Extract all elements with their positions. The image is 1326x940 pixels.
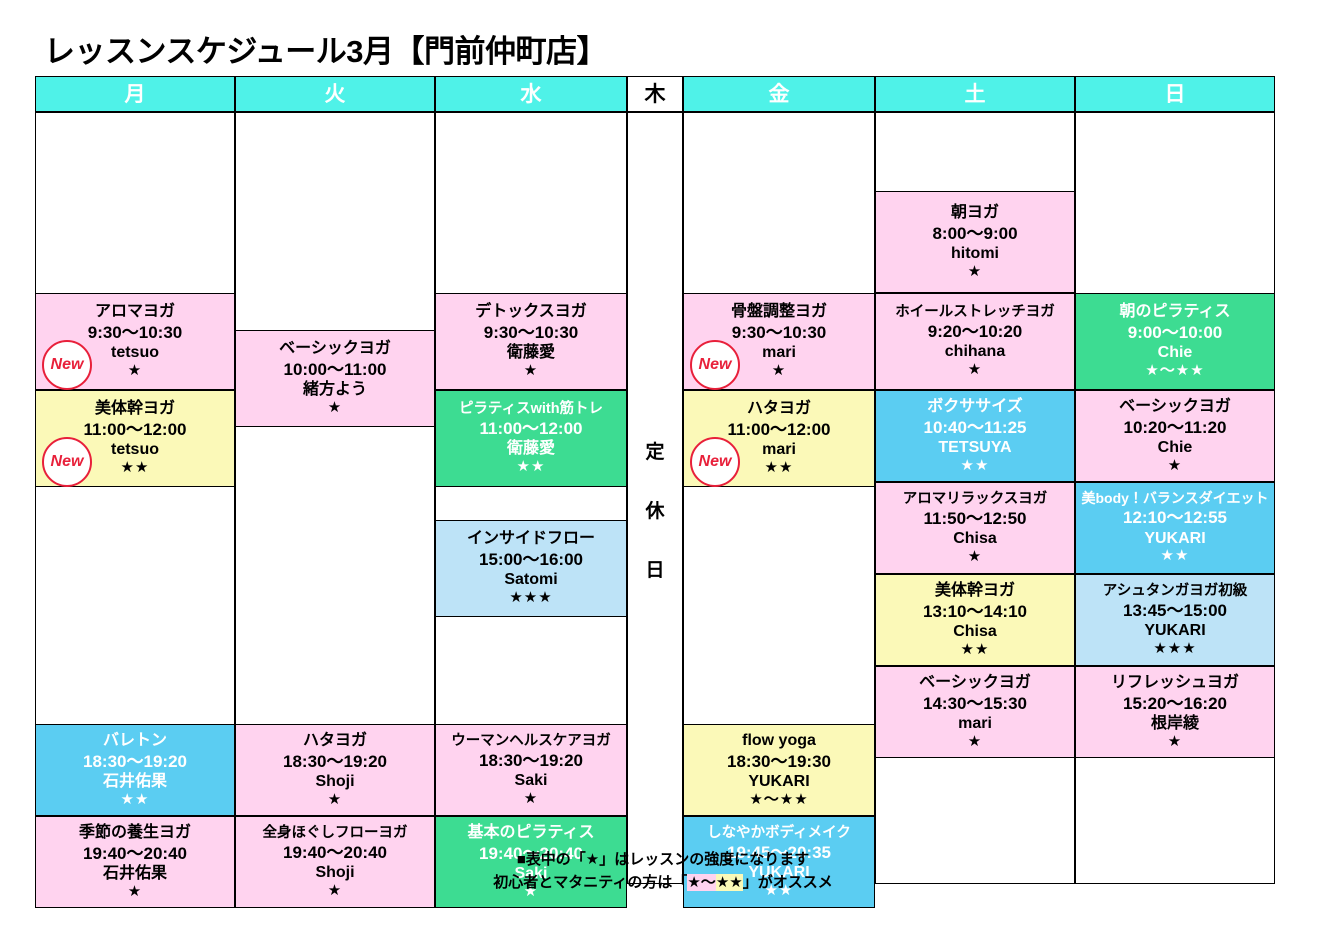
lesson-cell[interactable]: リフレッシュヨガ15:20〜16:20根岸綾★ — [1075, 666, 1275, 758]
new-badge: New — [690, 340, 740, 390]
lesson-instructor: Shoji — [315, 773, 354, 791]
lesson-time: 11:00〜12:00 — [479, 419, 582, 438]
day-column-wed: 水デトックスヨガ9:30〜10:30衛藤愛★ピラティスwith筋トレ11:00〜… — [435, 76, 627, 884]
lesson-name: ボクササイズ — [927, 398, 1023, 416]
closed-day-char3: 日 — [645, 561, 664, 580]
schedule-grid: 月アロマヨガ9:30〜10:30tetsuo★New美体幹ヨガ11:00〜12:… — [35, 76, 1275, 884]
lesson-instructor: tetsuo — [111, 441, 159, 459]
lesson-name: ベーシックヨガ — [919, 674, 1031, 692]
day-body-tue: ベーシックヨガ10:00〜11:00緒方よう★ハタヨガ18:30〜19:20Sh… — [235, 112, 435, 884]
lesson-name: 全身ほぐしフローヨガ — [263, 825, 408, 841]
lesson-intensity-stars: ★★★ — [509, 590, 552, 607]
lesson-intensity-stars: ★ — [328, 400, 342, 417]
day-body-fri: 骨盤調整ヨガ9:30〜10:30mari★Newハタヨガ11:00〜12:00m… — [683, 112, 875, 884]
day-header-fri: 金 — [683, 76, 875, 112]
closed-day-label: 定休日 — [628, 443, 682, 620]
lesson-name: リフレッシュヨガ — [1111, 674, 1239, 692]
day-body-sat: 朝ヨガ8:00〜9:00hitomi★ホイールストレッチヨガ9:20〜10:20… — [875, 112, 1075, 884]
day-header-mon: 月 — [35, 76, 235, 112]
lesson-cell[interactable]: ベーシックヨガ10:20〜11:20Chie★ — [1075, 390, 1275, 482]
lesson-name: バレトン — [103, 732, 167, 750]
lesson-intensity-stars: ★ — [968, 362, 982, 379]
lesson-cell[interactable]: ベーシックヨガ10:00〜11:00緒方よう★ — [235, 330, 435, 427]
lesson-name: 朝ヨガ — [951, 204, 999, 222]
new-badge: New — [42, 340, 92, 390]
day-column-fri: 金骨盤調整ヨガ9:30〜10:30mari★Newハタヨガ11:00〜12:00… — [683, 76, 875, 884]
lesson-cell[interactable]: flow yoga18:30〜19:30YUKARI★〜★★ — [683, 724, 875, 816]
lesson-name: 美体幹ヨガ — [935, 582, 1015, 600]
lesson-instructor: Chie — [1158, 439, 1193, 457]
lesson-cell[interactable]: 美body！バランスダイエット12:10〜12:55YUKARI★★ — [1075, 482, 1275, 574]
lesson-name: アロマリラックスヨガ — [903, 491, 1048, 507]
lesson-name: ピラティスwith筋トレ — [459, 401, 603, 417]
lesson-instructor: Satomi — [504, 571, 557, 589]
lesson-intensity-stars: ★ — [524, 791, 538, 808]
lesson-intensity-stars: ★★★ — [1153, 641, 1196, 658]
lesson-instructor: mari — [958, 715, 992, 733]
lesson-instructor: Chisa — [953, 623, 997, 641]
lesson-name: ウーマンヘルスケアヨガ — [451, 733, 611, 749]
lesson-intensity-stars: ★ — [968, 264, 982, 281]
lesson-time: 10:00〜11:00 — [283, 360, 386, 379]
lesson-time: 8:00〜9:00 — [932, 224, 1017, 243]
day-column-sun: 日朝のピラティス9:00〜10:00Chie★〜★★ベーシックヨガ10:20〜1… — [1075, 76, 1275, 884]
lesson-instructor: YUKARI — [1144, 622, 1205, 640]
new-badge: New — [42, 437, 92, 487]
lesson-instructor: TETSUYA — [938, 439, 1011, 457]
day-body-mon: アロマヨガ9:30〜10:30tetsuo★New美体幹ヨガ11:00〜12:0… — [35, 112, 235, 884]
lesson-cell[interactable]: ハタヨガ18:30〜19:20Shoji★ — [235, 724, 435, 816]
day-body-sun: 朝のピラティス9:00〜10:00Chie★〜★★ベーシックヨガ10:20〜11… — [1075, 112, 1275, 884]
lesson-time: 10:20〜11:20 — [1123, 418, 1226, 437]
lesson-name: ハタヨガ — [747, 400, 811, 418]
lesson-instructor: mari — [762, 344, 796, 362]
lesson-time: 12:10〜12:55 — [1123, 508, 1227, 527]
day-header-sat: 土 — [875, 76, 1075, 112]
lesson-instructor: Saki — [515, 772, 548, 790]
lesson-intensity-stars: ★〜★★ — [749, 792, 808, 809]
lesson-cell[interactable]: ボクササイズ10:40〜11:25TETSUYA★★ — [875, 390, 1075, 482]
lesson-time: 9:00〜10:00 — [1128, 323, 1223, 342]
day-column-tue: 火ベーシックヨガ10:00〜11:00緒方よう★ハタヨガ18:30〜19:20S… — [235, 76, 435, 884]
lesson-time: 9:30〜10:30 — [732, 323, 827, 342]
lesson-intensity-stars: ★★ — [121, 792, 150, 809]
day-header-tue: 火 — [235, 76, 435, 112]
legend-line-2-suffix: 」がオススメ — [743, 874, 833, 891]
lesson-time: 18:30〜19:20 — [83, 752, 187, 771]
lesson-name: 基本のピラティス — [467, 824, 594, 842]
legend-star-two: ★★ — [716, 874, 743, 891]
lesson-cell[interactable]: 朝のピラティス9:00〜10:00Chie★〜★★ — [1075, 293, 1275, 390]
lesson-name: 朝のピラティス — [1119, 303, 1230, 321]
day-column-thu: 木定休日 — [627, 76, 683, 884]
page-title: レッスンスケジュール3月【門前仲町店】 — [44, 26, 607, 71]
lesson-time: 9:20〜10:20 — [928, 322, 1023, 341]
closed-day-char2: 休 — [645, 502, 664, 521]
lesson-cell[interactable]: ベーシックヨガ14:30〜15:30mari★ — [875, 666, 1075, 758]
lesson-instructor: 衛藤愛 — [507, 440, 555, 458]
lesson-name: 美body！バランスダイエット — [1081, 491, 1268, 507]
lesson-time: 14:30〜15:30 — [923, 694, 1027, 713]
lesson-time: 11:00〜12:00 — [83, 420, 186, 439]
day-header-sun: 日 — [1075, 76, 1275, 112]
lesson-name: ベーシックヨガ — [1119, 398, 1231, 416]
lesson-instructor: chihana — [945, 343, 1005, 361]
lesson-time: 11:50〜12:50 — [923, 509, 1026, 528]
legend-line-1: ■表中の「★」はレッスンの強度になります — [8, 848, 1318, 871]
lesson-cell[interactable]: ホイールストレッチヨガ9:20〜10:20chihana★ — [875, 293, 1075, 390]
lesson-instructor: Chie — [1158, 344, 1193, 362]
new-badge: New — [690, 437, 740, 487]
lesson-name: ベーシックヨガ — [279, 340, 391, 358]
lesson-intensity-stars: ★ — [772, 363, 786, 380]
day-body-wed: デトックスヨガ9:30〜10:30衛藤愛★ピラティスwith筋トレ11:00〜1… — [435, 112, 627, 884]
lesson-intensity-stars: ★ — [328, 792, 342, 809]
lesson-time: 18:30〜19:30 — [727, 752, 831, 771]
lesson-instructor: YUKARI — [748, 773, 809, 791]
lesson-time: 18:30〜19:20 — [479, 751, 583, 770]
lesson-name: ハタヨガ — [303, 732, 367, 750]
lesson-time: 10:40〜11:25 — [923, 418, 1026, 437]
lesson-cell[interactable]: ピラティスwith筋トレ11:00〜12:00衛藤愛★★ — [435, 390, 627, 487]
day-header-wed: 水 — [435, 76, 627, 112]
lesson-intensity-stars: ★ — [524, 363, 538, 380]
lesson-instructor: 緒方よう — [303, 381, 367, 399]
lesson-intensity-stars: ★★ — [517, 459, 546, 476]
lesson-instructor: 石井佑果 — [103, 773, 167, 791]
lesson-intensity-stars: ★ — [1168, 458, 1182, 475]
lesson-intensity-stars: ★★ — [765, 460, 794, 477]
lesson-name: 骨盤調整ヨガ — [731, 303, 827, 321]
lesson-name: アロマヨガ — [95, 303, 175, 321]
lesson-cell[interactable]: アロマリラックスヨガ11:50〜12:50Chisa★ — [875, 482, 1075, 574]
lesson-instructor: mari — [762, 441, 796, 459]
lesson-intensity-stars: ★ — [968, 734, 982, 751]
lesson-time: 9:30〜10:30 — [88, 323, 183, 342]
lesson-name: デトックスヨガ — [475, 303, 587, 321]
lesson-intensity-stars: ★ — [1168, 734, 1182, 751]
lesson-time: 18:30〜19:20 — [283, 752, 387, 771]
lesson-instructor: tetsuo — [111, 344, 159, 362]
lesson-intensity-stars: ★〜★★ — [1145, 363, 1204, 380]
lesson-intensity-stars: ★★ — [121, 460, 150, 477]
lesson-cell[interactable]: バレトン18:30〜19:20石井佑果★★ — [35, 724, 235, 816]
lesson-name: しなやかボディメイク — [707, 825, 851, 841]
day-header-thu: 木 — [627, 76, 683, 112]
lesson-intensity-stars: ★★ — [961, 642, 990, 659]
lesson-name: 季節の養生ヨガ — [79, 824, 191, 842]
lesson-intensity-stars: ★★ — [1161, 548, 1190, 565]
lesson-name: flow yoga — [742, 732, 816, 750]
lesson-intensity-stars: ★ — [968, 549, 982, 566]
lesson-cell[interactable]: インサイドフロー15:00〜16:00Satomi★★★ — [435, 520, 627, 617]
day-body-thu: 定休日 — [627, 112, 683, 884]
lesson-time: 15:20〜16:20 — [1123, 694, 1227, 713]
legend-line-2-prefix: 初心者とマタニティの方は「 — [493, 874, 687, 891]
lesson-cell[interactable]: アシュタンガヨガ初級13:45〜15:00YUKARI★★★ — [1075, 574, 1275, 666]
lesson-intensity-stars: ★★ — [961, 458, 990, 475]
lesson-instructor: 根岸綾 — [1151, 715, 1199, 733]
closed-day-char1: 定 — [645, 443, 664, 462]
lesson-instructor: 衛藤愛 — [507, 344, 555, 362]
lesson-time: 9:30〜10:30 — [484, 323, 579, 342]
day-column-sat: 土朝ヨガ8:00〜9:00hitomi★ホイールストレッチヨガ9:20〜10:2… — [875, 76, 1075, 884]
legend-line-2: 初心者とマタニティの方は「★〜★★」がオススメ — [8, 871, 1318, 894]
lesson-instructor: Chisa — [953, 530, 997, 548]
lesson-time: 13:45〜15:00 — [1123, 601, 1227, 620]
lesson-time: 13:10〜14:10 — [923, 602, 1027, 621]
legend-star-one: ★〜 — [687, 874, 715, 891]
lesson-cell[interactable]: ウーマンヘルスケアヨガ18:30〜19:20Saki★ — [435, 724, 627, 816]
legend: ■表中の「★」はレッスンの強度になります 初心者とマタニティの方は「★〜★★」が… — [8, 848, 1318, 895]
lesson-cell[interactable]: デトックスヨガ9:30〜10:30衛藤愛★ — [435, 293, 627, 390]
day-column-mon: 月アロマヨガ9:30〜10:30tetsuo★New美体幹ヨガ11:00〜12:… — [35, 76, 235, 884]
lesson-instructor: YUKARI — [1144, 530, 1205, 548]
lesson-time: 11:00〜12:00 — [727, 420, 830, 439]
lesson-instructor: hitomi — [951, 245, 999, 263]
lesson-cell[interactable]: 朝ヨガ8:00〜9:00hitomi★ — [875, 191, 1075, 293]
lesson-intensity-stars: ★ — [128, 363, 142, 380]
lesson-name: ホイールストレッチヨガ — [895, 304, 1055, 320]
lesson-cell[interactable]: 美体幹ヨガ13:10〜14:10Chisa★★ — [875, 574, 1075, 666]
lesson-time: 15:00〜16:00 — [479, 550, 583, 569]
lesson-name: インサイドフロー — [467, 530, 595, 548]
lesson-name: アシュタンガヨガ初級 — [1103, 583, 1247, 599]
schedule-page: レッスンスケジュール3月【門前仲町店】 月アロマヨガ9:30〜10:30tets… — [0, 0, 1326, 940]
lesson-name: 美体幹ヨガ — [95, 400, 175, 418]
